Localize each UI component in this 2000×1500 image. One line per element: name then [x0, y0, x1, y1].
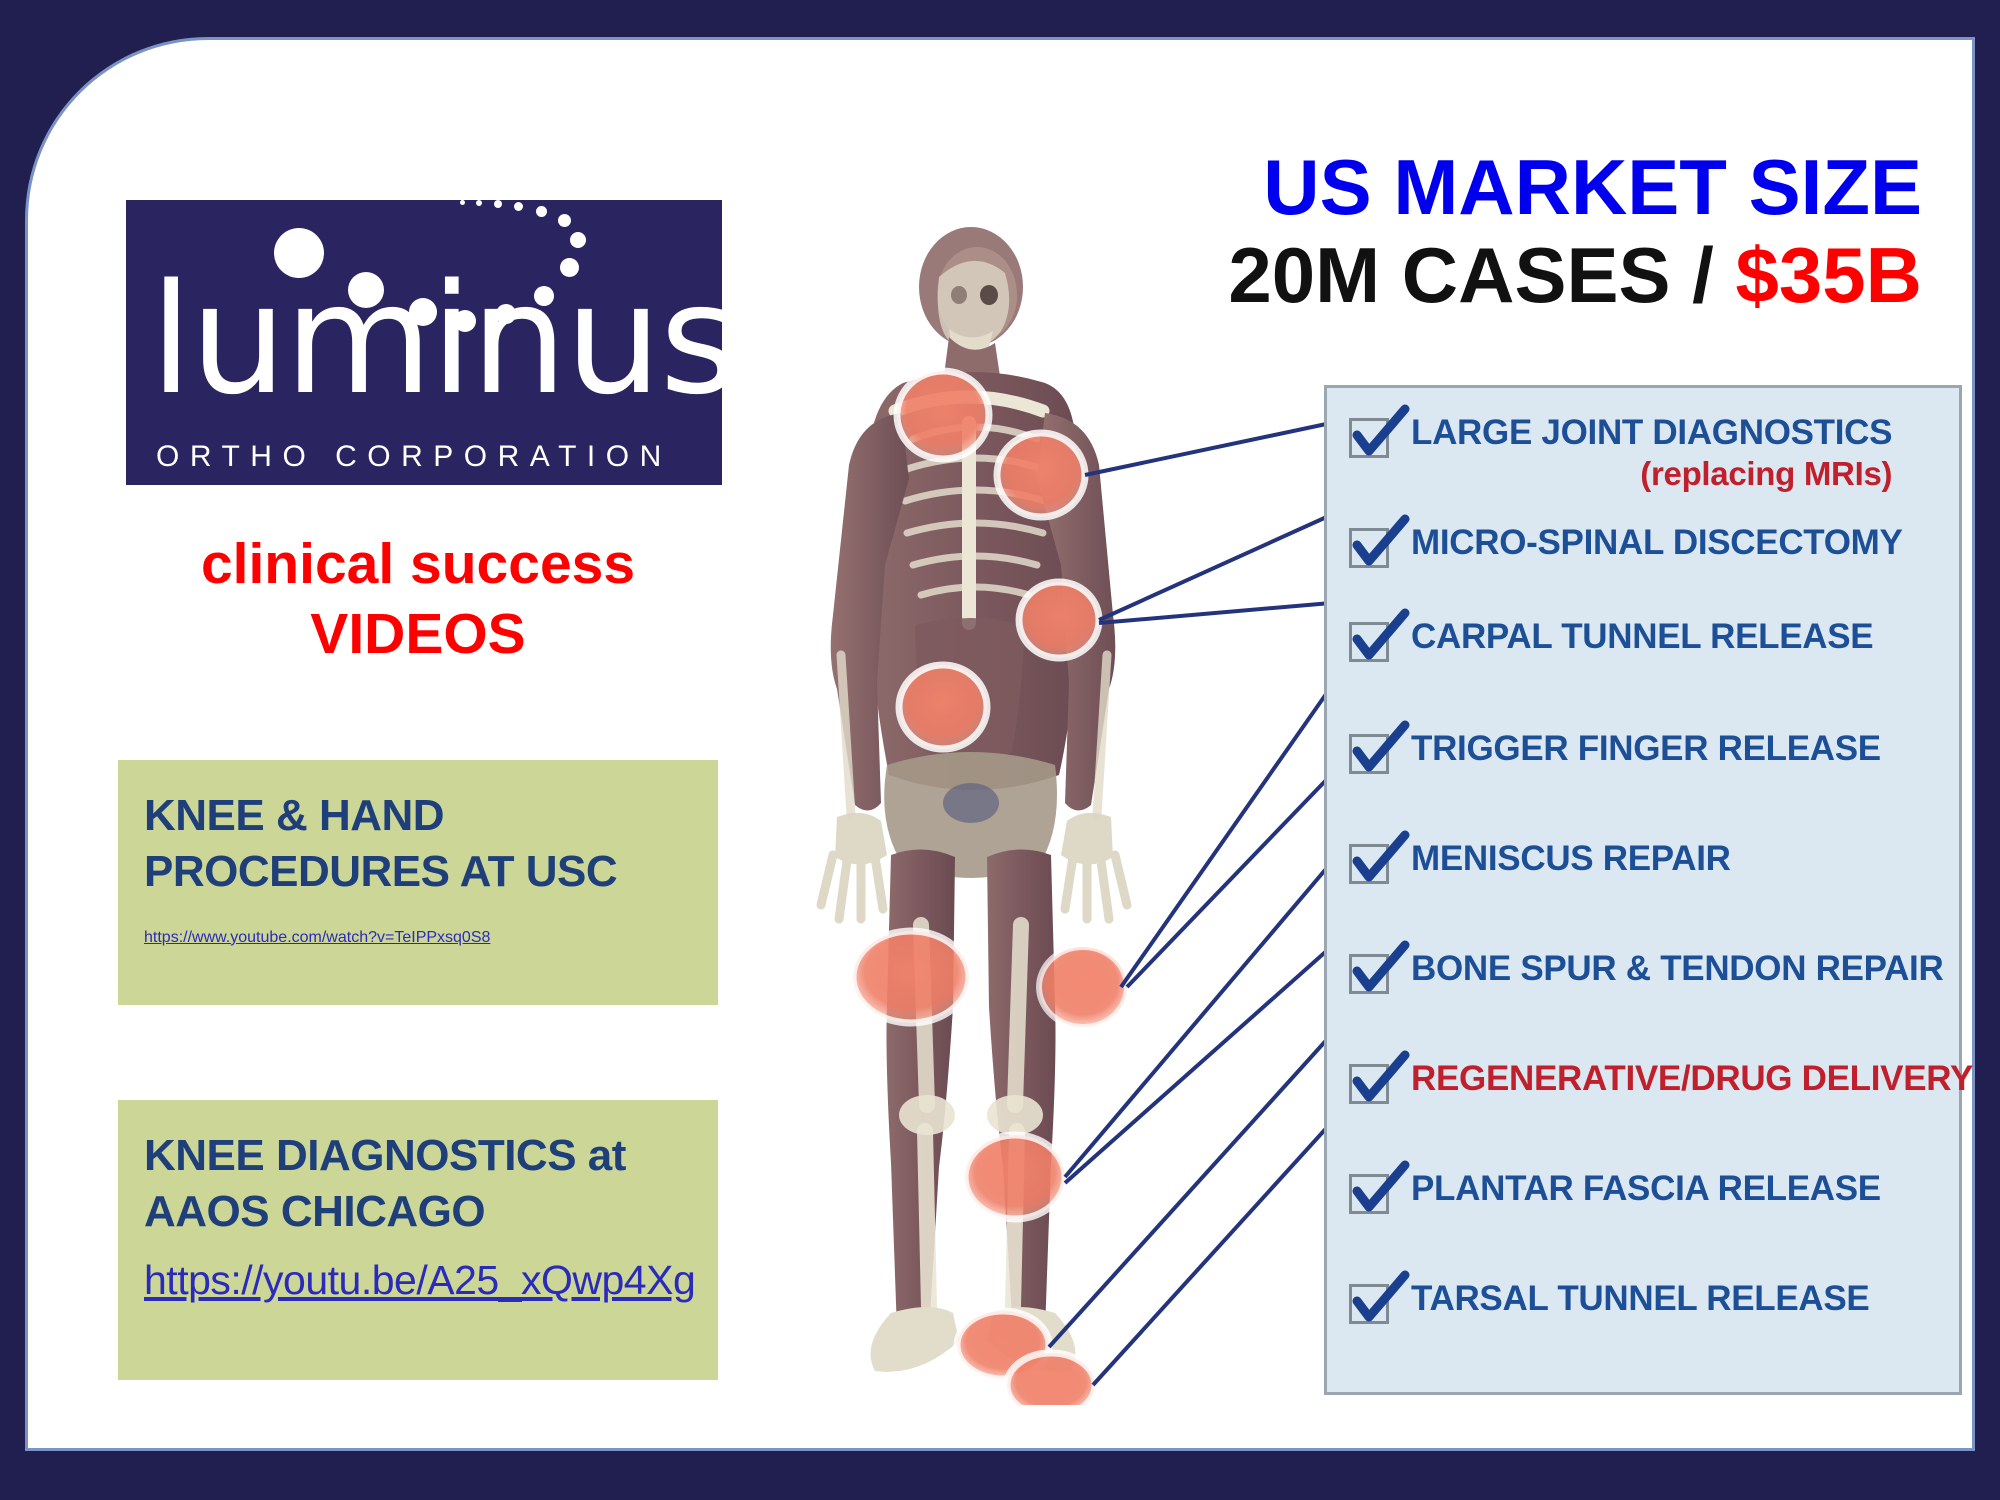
checklist-item-label: TRIGGER FINGER RELEASE	[1411, 730, 1881, 768]
logo-dot	[494, 200, 502, 208]
procedures-checklist-panel: LARGE JOINT DIAGNOSTICS (replacing MRIs)…	[1324, 385, 1962, 1395]
checklist-item-label: PLANTAR FASCIA RELEASE	[1411, 1170, 1881, 1208]
checklist-item[interactable]: REGENERATIVE/DRUG DELIVERY	[1349, 1060, 1973, 1104]
video-card-usc-link[interactable]: https://www.youtube.com/watch?v=TeIPPxsq…	[144, 929, 692, 947]
checklist-item-label: CARPAL TUNNEL RELEASE	[1411, 618, 1873, 656]
checklist-item[interactable]: CARPAL TUNNEL RELEASE	[1349, 618, 1873, 662]
checklist-item-label: REGENERATIVE/DRUG DELIVERY	[1411, 1060, 1973, 1098]
market-size-title: US MARKET SIZE	[1228, 148, 1922, 226]
checkbox-checked-icon[interactable]	[1349, 1284, 1389, 1324]
video-card-usc[interactable]: KNEE & HAND PROCEDURES AT USC https://ww…	[118, 760, 718, 1005]
video-card-aaos[interactable]: KNEE DIAGNOSTICS at AAOS CHICAGO https:/…	[118, 1100, 718, 1380]
checklist-item[interactable]: MENISCUS REPAIR	[1349, 840, 1731, 884]
checklist-item-label: TARSAL TUNNEL RELEASE	[1411, 1280, 1869, 1318]
checklist-item-label: BONE SPUR & TENDON REPAIR	[1411, 950, 1943, 988]
checkbox-checked-icon[interactable]	[1349, 1064, 1389, 1104]
checkbox-checked-icon[interactable]	[1349, 622, 1389, 662]
market-size-cases: 20M CASES /	[1228, 231, 1735, 319]
video-card-usc-title: KNEE & HAND PROCEDURES AT USC	[144, 788, 692, 901]
logo-subtitle: ORTHO CORPORATION	[156, 440, 672, 474]
slide-page: luminus ORTHO CORPORATION clinical succe…	[28, 40, 1972, 1448]
video-card-aaos-title: KNEE DIAGNOSTICS at AAOS CHICAGO	[144, 1128, 692, 1241]
checklist-item[interactable]: TARSAL TUNNEL RELEASE	[1349, 1280, 1869, 1324]
logo-dot	[570, 232, 586, 248]
market-size-header: US MARKET SIZE 20M CASES / $35B	[1228, 148, 1922, 314]
tagline-line-1: clinical success	[98, 530, 738, 600]
logo-dot	[536, 206, 547, 217]
video-card-aaos-link[interactable]: https://youtu.be/A25_xQwp4Xg	[144, 1257, 692, 1304]
logo-dot	[558, 214, 571, 227]
tagline-line-2: VIDEOS	[98, 600, 738, 670]
checklist-item[interactable]: TRIGGER FINGER RELEASE	[1349, 730, 1881, 774]
checkbox-checked-icon[interactable]	[1349, 734, 1389, 774]
left-column: luminus ORTHO CORPORATION clinical succe…	[98, 140, 738, 1430]
logo-wordmark: luminus	[150, 264, 722, 416]
checkbox-checked-icon[interactable]	[1349, 954, 1389, 994]
clinical-success-tagline: clinical success VIDEOS	[98, 530, 738, 669]
logo-dot	[514, 202, 523, 211]
checklist-item[interactable]: PLANTAR FASCIA RELEASE	[1349, 1170, 1881, 1214]
checklist-item-label: MICRO-SPINAL DISCECTOMY	[1411, 524, 1903, 562]
checkbox-checked-icon[interactable]	[1349, 528, 1389, 568]
checklist-item[interactable]: LARGE JOINT DIAGNOSTICS (replacing MRIs)	[1349, 414, 1892, 491]
market-size-dollars: $35B	[1736, 231, 1922, 319]
checklist-item[interactable]: BONE SPUR & TENDON REPAIR	[1349, 950, 1943, 994]
anatomy-illustration	[763, 225, 1183, 1405]
checkbox-checked-icon[interactable]	[1349, 844, 1389, 884]
checklist-item-label: LARGE JOINT DIAGNOSTICS (replacing MRIs)	[1411, 414, 1892, 491]
checkbox-checked-icon[interactable]	[1349, 418, 1389, 458]
market-size-figures: 20M CASES / $35B	[1228, 236, 1922, 314]
checklist-item-label: MENISCUS REPAIR	[1411, 840, 1731, 878]
company-logo: luminus ORTHO CORPORATION	[126, 200, 722, 485]
checkbox-checked-icon[interactable]	[1349, 1174, 1389, 1214]
anatomy-figure	[763, 225, 1183, 1405]
logo-dot	[476, 200, 482, 206]
checklist-item[interactable]: MICRO-SPINAL DISCECTOMY	[1349, 524, 1903, 568]
checklist-item-sublabel: (replacing MRIs)	[1411, 456, 1892, 492]
slide-root: luminus ORTHO CORPORATION clinical succe…	[0, 0, 2000, 1500]
logo-dot	[460, 200, 465, 205]
